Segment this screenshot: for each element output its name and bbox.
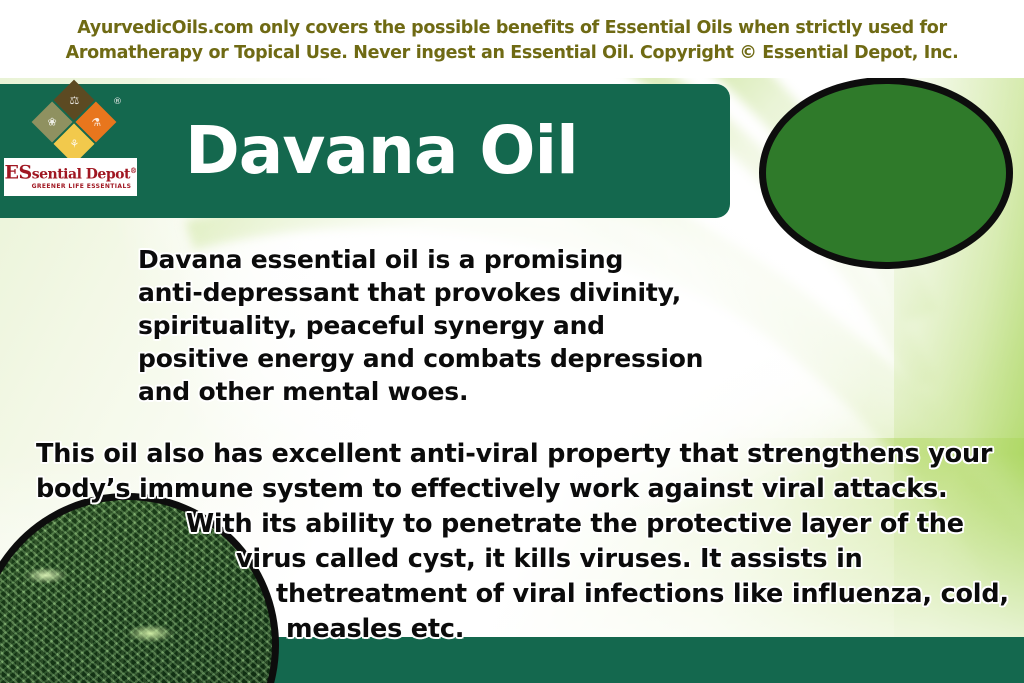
flask-icon: ⚗	[91, 117, 101, 128]
disclaimer-line-2: Aromatherapy or Topical Use. Never inges…	[66, 41, 959, 66]
essential-depot-wordmark[interactable]: ESsential Depot® GREENER LIFE ESSENTIALS	[4, 158, 137, 196]
paragraph-1-line-5: and other mental woes.	[138, 375, 778, 408]
paragraph-1-line-1: Davana essential oil is a promising	[138, 243, 778, 276]
paragraph-2-line-1: This oil also has excellent anti-viral p…	[36, 437, 996, 472]
disclaimer-line-1: AyurvedicOils.com only covers the possib…	[77, 16, 947, 41]
paragraph-2-line-2: body’s immune system to effectively work…	[36, 472, 996, 507]
diamond-registered-mark: ®	[113, 97, 122, 107]
paragraph-2-line-6: measles etc.	[36, 612, 996, 647]
brand-tagline: GREENER LIFE ESSENTIALS	[32, 182, 132, 191]
paragraph-1-line-3: spirituality, peaceful synergy and	[138, 309, 778, 342]
paragraph-1-line-4: positive energy and combats depression	[138, 342, 778, 375]
mortar-pestle-icon: ⚘	[69, 138, 79, 149]
registered-mark: ®	[130, 166, 137, 175]
brand-name: ESsential Depot®	[5, 163, 137, 183]
brand-rest: sential	[32, 166, 82, 182]
benefit-paragraph-antiviral: This oil also has excellent anti-viral p…	[36, 437, 996, 647]
paragraph-2-line-4: virus called cyst, it kills viruses. It …	[36, 542, 996, 577]
brand-prefix: ES	[5, 161, 32, 183]
page-title: Davana Oil	[185, 104, 578, 198]
disclaimer-banner: AyurvedicOils.com only covers the possib…	[0, 0, 1024, 78]
paragraph-2-line-5: thetreatment of viral infections like in…	[36, 577, 996, 612]
paragraph-2-line-3: With its ability to penetrate the protec…	[36, 507, 996, 542]
paragraph-1-line-2: anti-depressant that provokes divinity,	[138, 276, 778, 309]
scales-icon: ⚖	[69, 95, 79, 106]
leaf-icon: ❀	[47, 117, 56, 128]
brand-second-word: Depot	[86, 166, 130, 182]
infographic-poster: AyurvedicOils.com only covers the possib…	[0, 0, 1024, 683]
davana-plant-photo-top-right	[766, 84, 1006, 262]
benefit-paragraph-antidepressant: Davana essential oil is a promising anti…	[138, 243, 778, 408]
